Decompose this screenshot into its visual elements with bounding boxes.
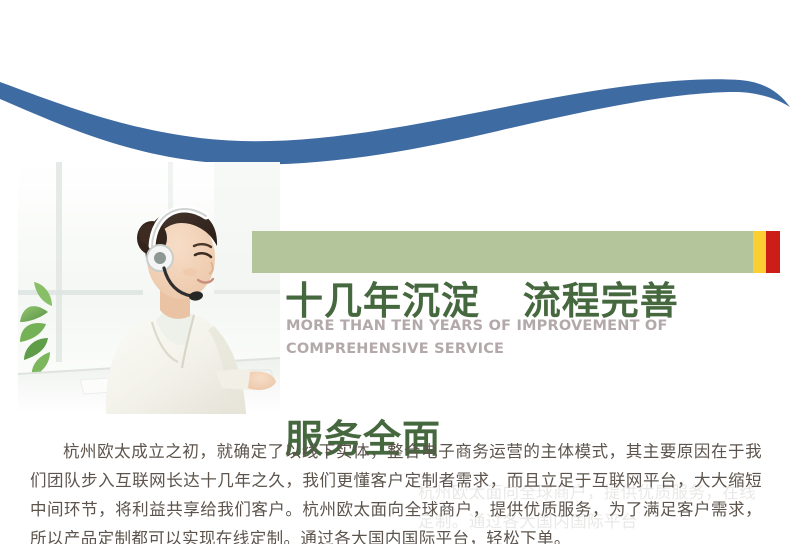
top-wave-decoration xyxy=(0,0,790,170)
customer-service-agent-photo xyxy=(18,162,280,414)
banner-page: 十几年沉淀 流程完善 服务全面 MORE THAN TEN YEARS OF I… xyxy=(0,0,790,544)
wave-icon xyxy=(0,0,790,170)
subtitle: MORE THAN TEN YEARS OF IMPROVEMENT OF CO… xyxy=(286,315,706,361)
hero-photo xyxy=(18,162,280,414)
accent-stripe-red xyxy=(766,231,780,273)
subtitle-line-2: COMPREHENSIVE SERVICE xyxy=(286,338,706,361)
subtitle-line-1: MORE THAN TEN YEARS OF IMPROVEMENT OF xyxy=(286,315,706,338)
body-paragraph: 杭州欧太成立之初，就确定了以线下实体，整合电子商务运营的主体模式，其主要原因在于… xyxy=(30,437,762,544)
